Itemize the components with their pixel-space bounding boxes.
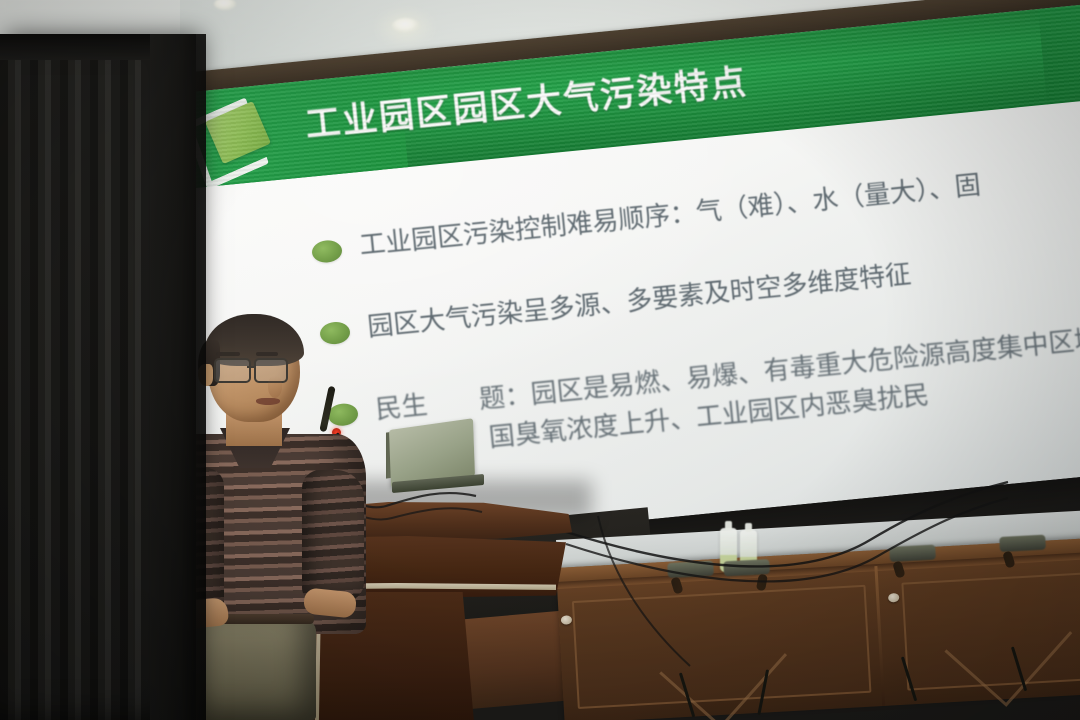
bullet-dot-icon xyxy=(311,239,343,264)
green-diamond-icon xyxy=(205,101,271,164)
eyeglasses-icon xyxy=(214,358,300,380)
curtain-edge-fold xyxy=(150,34,206,720)
conference-room-photo: 工业园区园区大气污染特点 工业园区污染控制难易顺序：气（难）、水（量大）、固 园… xyxy=(0,0,1080,720)
glasses-lens xyxy=(214,358,251,383)
ceiling-downlight-1 xyxy=(392,18,420,33)
presenter-mouth xyxy=(256,398,280,405)
presenter-eyebrow xyxy=(256,352,278,356)
presenter-right-arm xyxy=(302,470,364,602)
microphone-cables xyxy=(540,470,1010,670)
presenter-eyebrow xyxy=(216,352,240,356)
presenter-nose xyxy=(268,376,282,398)
banner-tail xyxy=(1038,2,1080,104)
